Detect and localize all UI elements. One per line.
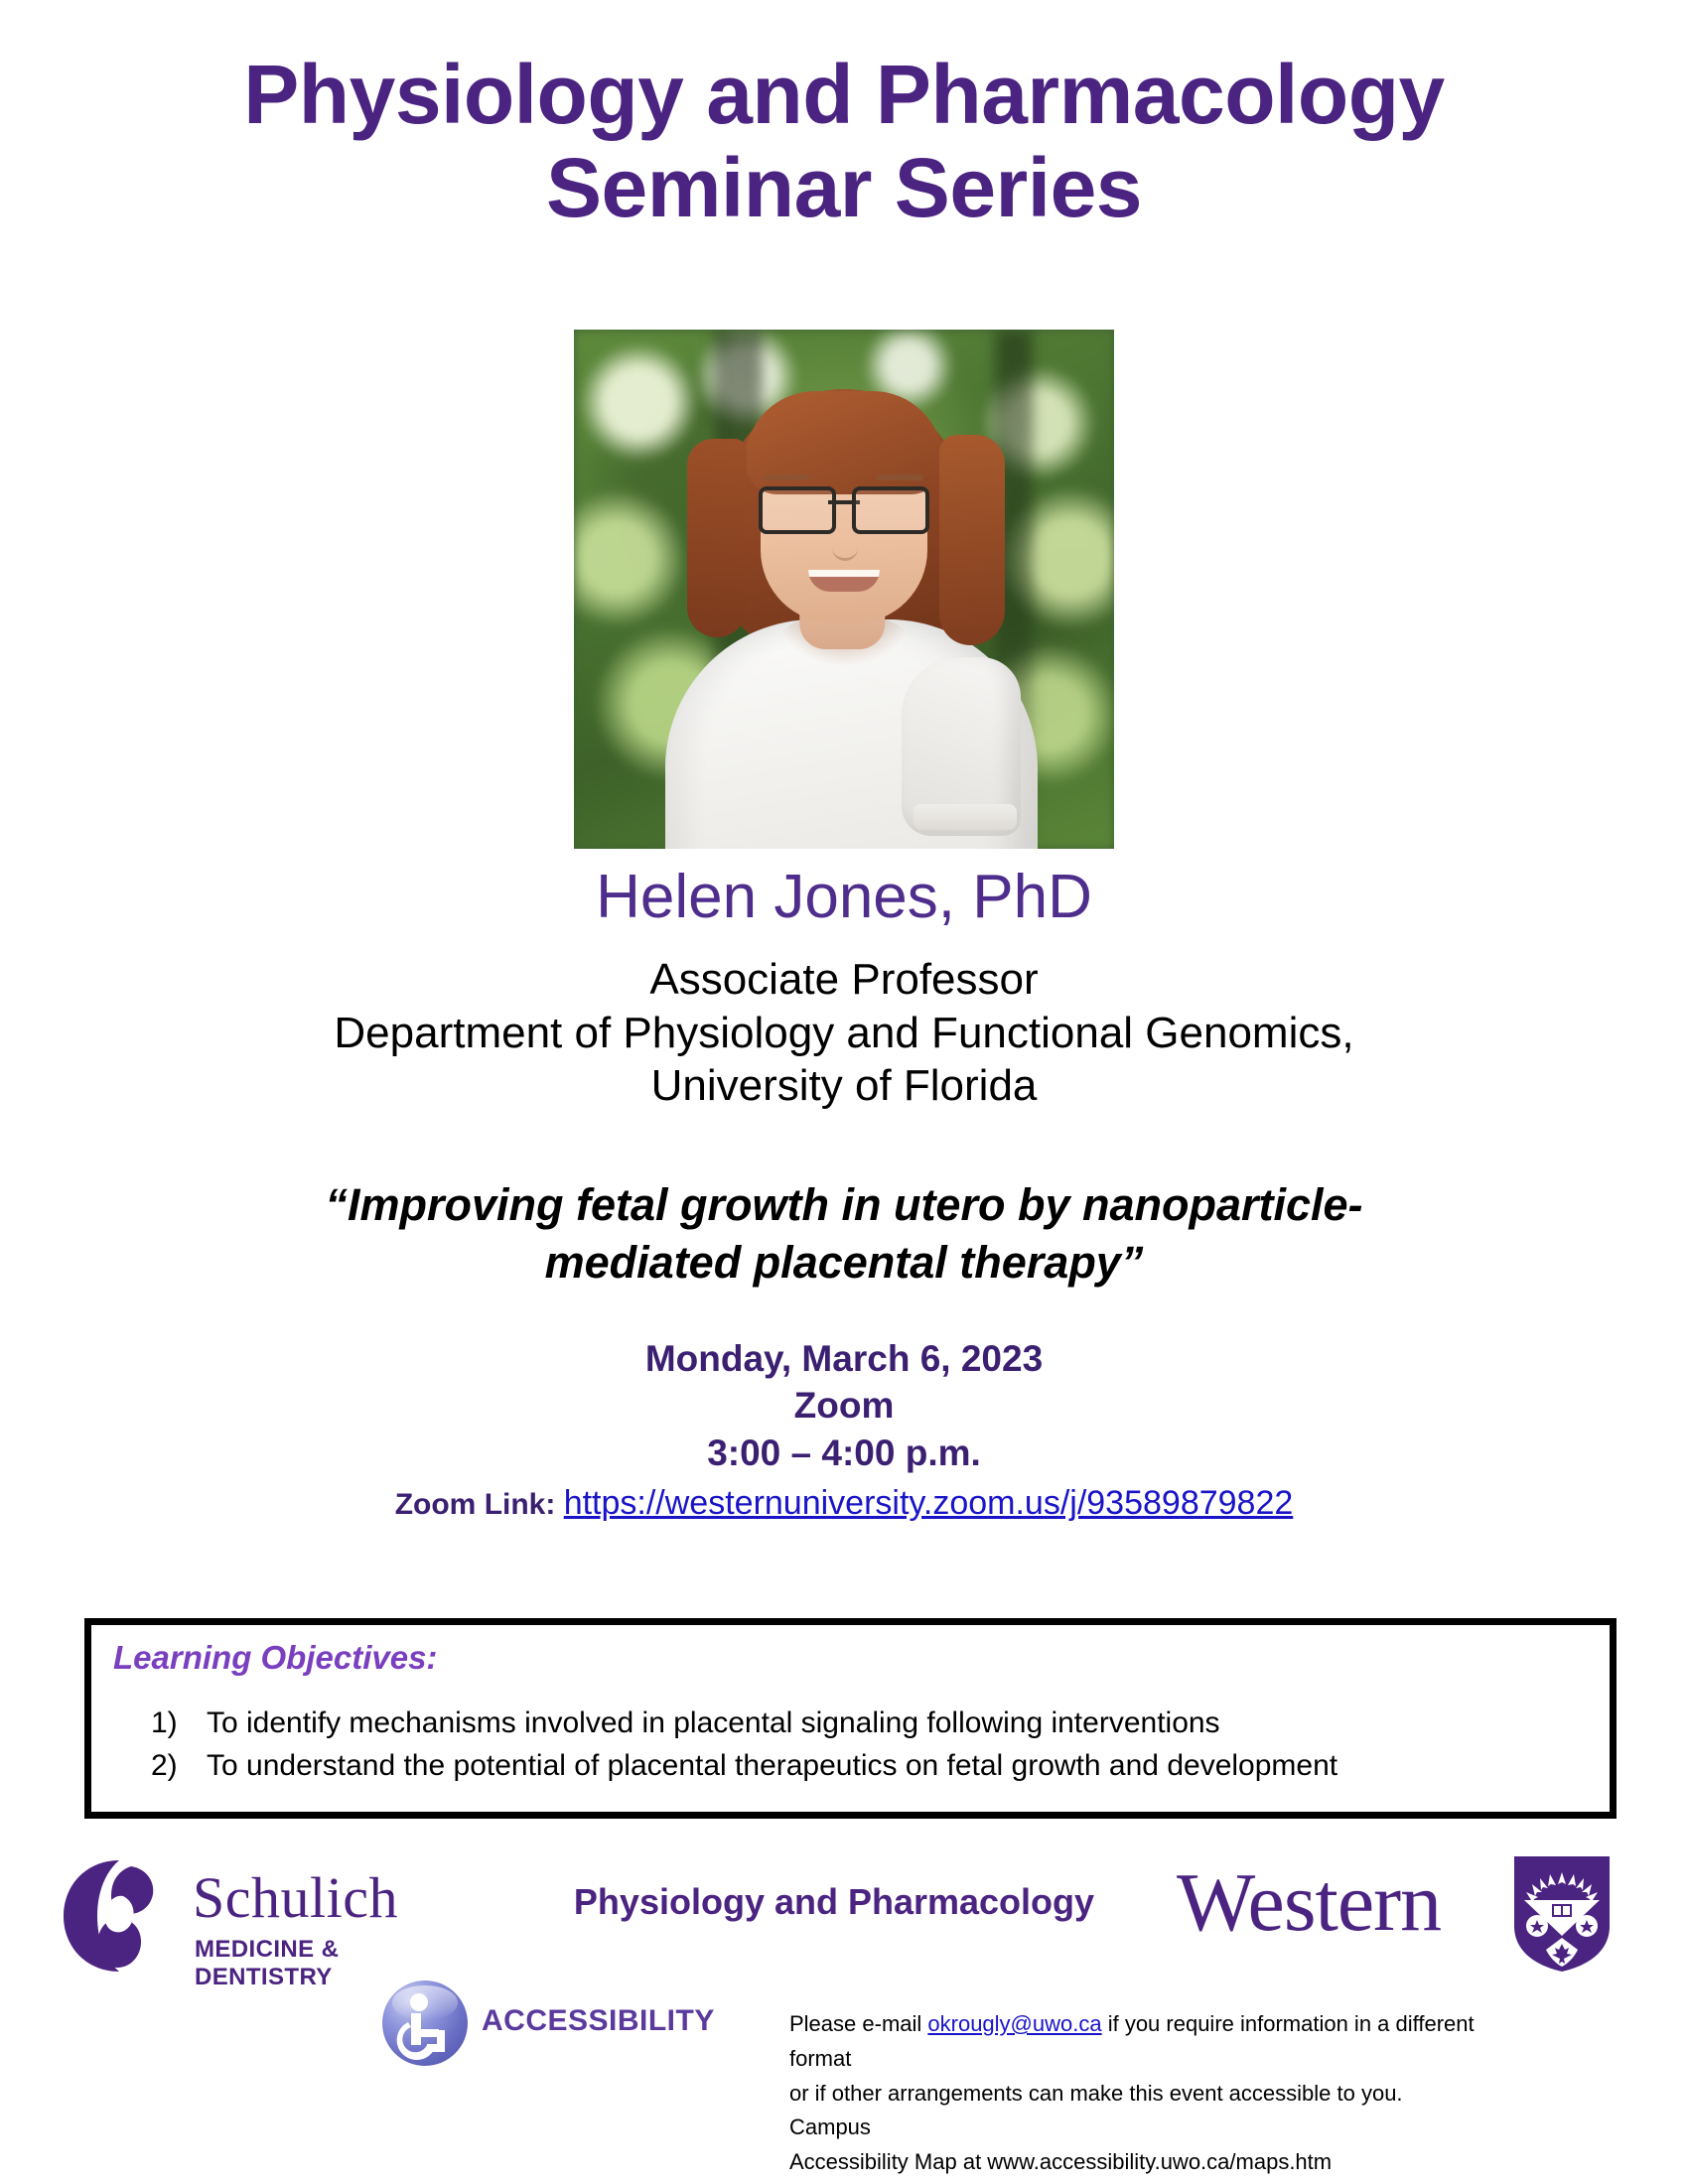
- seminar-poster: Physiology and Pharmacology Seminar Seri…: [0, 0, 1688, 2184]
- zoom-link-label: Zoom Link:: [395, 1488, 556, 1521]
- event-date: Monday, March 6, 2023: [0, 1335, 1688, 1382]
- event-time: 3:00 – 4:00 p.m.: [0, 1430, 1688, 1477]
- speaker-affiliation: Associate Professor Department of Physio…: [0, 953, 1688, 1113]
- blouse-cuff: [914, 804, 1017, 830]
- accessibility-email-link[interactable]: okrougly@uwo.ca: [927, 2011, 1101, 2036]
- smile: [808, 570, 880, 592]
- learning-objectives-box: Learning Objectives: 1) To identify mech…: [84, 1618, 1617, 1819]
- event-details: Monday, March 6, 2023 Zoom 3:00 – 4:00 p…: [0, 1335, 1688, 1527]
- eyeglasses-icon: [759, 486, 929, 528]
- wheelchair-icon: [382, 1980, 468, 2066]
- speaker-institution: University of Florida: [0, 1059, 1688, 1113]
- title-line-2: Seminar Series: [0, 141, 1688, 234]
- western-wordmark: Western: [1177, 1854, 1441, 1951]
- list-item: 2) To understand the potential of placen…: [151, 1745, 1581, 1788]
- schulich-swoosh-icon: [62, 1856, 181, 1976]
- objective-number: 1): [151, 1703, 207, 1745]
- zoom-link-url[interactable]: https://westernuniversity.zoom.us/j/9358…: [564, 1484, 1294, 1522]
- western-logo: Western: [1177, 1848, 1623, 1978]
- speaker-department: Department of Physiology and Functional …: [0, 1007, 1688, 1060]
- accessibility-note: Please e-mail okrougly@uwo.ca if you req…: [789, 2007, 1484, 2180]
- page-title: Physiology and Pharmacology Seminar Seri…: [0, 48, 1688, 234]
- access-note-line-3: Accessibility Map at www.accessibility.u…: [789, 2149, 1332, 2174]
- objective-text: To identify mechanisms involved in place…: [207, 1703, 1581, 1745]
- schulich-wordmark: Schulich: [193, 1864, 398, 1931]
- access-note-part-1: Please e-mail: [789, 2011, 927, 2036]
- lens-left: [759, 486, 836, 534]
- talk-title-line-1: “Improving fetal growth in utero by nano…: [139, 1176, 1549, 1234]
- eyebrow-left: [763, 475, 810, 480]
- title-line-1: Physiology and Pharmacology: [0, 48, 1688, 141]
- speaker-figure: [574, 330, 1114, 849]
- hair-right: [939, 435, 1005, 645]
- speaker-name: Helen Jones, PhD: [0, 864, 1688, 931]
- department-name: Physiology and Pharmacology: [536, 1881, 1132, 1923]
- speaker-rank: Associate Professor: [0, 953, 1688, 1007]
- access-note-line-2: or if other arrangements can make this e…: [789, 2081, 1403, 2140]
- accessibility-label: ACCESSIBILITY: [482, 2004, 715, 2038]
- learning-objectives-heading: Learning Objectives:: [113, 1639, 437, 1677]
- talk-title-line-2: mediated placental therapy”: [139, 1234, 1549, 1292]
- objective-number: 2): [151, 1745, 207, 1788]
- schulich-logo: Schulich MEDICINE & DENTISTRY: [62, 1856, 479, 1980]
- lens-right: [852, 486, 929, 534]
- learning-objectives-list: 1) To identify mechanisms involved in pl…: [151, 1703, 1581, 1787]
- hair-left: [687, 439, 747, 637]
- event-mode: Zoom: [0, 1382, 1688, 1429]
- accessibility-logo: ACCESSIBILITY: [382, 1980, 720, 2076]
- western-shield-icon: [1510, 1852, 1614, 1974]
- eyebrow-right: [876, 475, 923, 480]
- list-item: 1) To identify mechanisms involved in pl…: [151, 1703, 1581, 1745]
- speaker-photo: [574, 330, 1114, 849]
- talk-title: “Improving fetal growth in utero by nano…: [139, 1176, 1549, 1291]
- nose: [832, 534, 858, 561]
- zoom-link-row: Zoom Link: https://westernuniversity.zoo…: [0, 1479, 1688, 1527]
- objective-text: To understand the potential of placental…: [207, 1745, 1581, 1788]
